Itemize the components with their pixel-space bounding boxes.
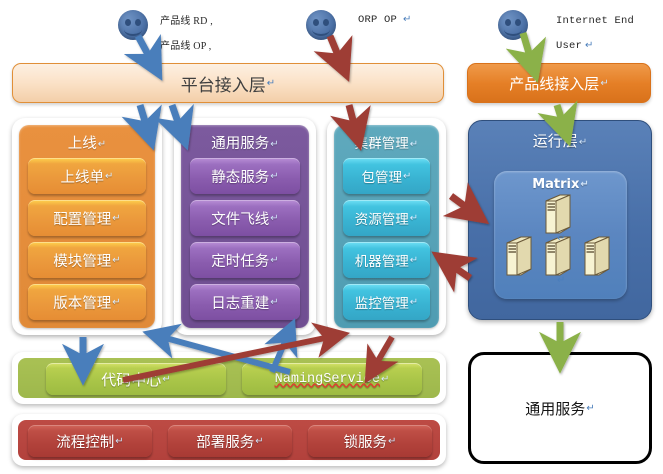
matrix-box[interactable]: Matrix↵ ↵ ↵ xyxy=(494,171,627,299)
actor-label-op: 产品线 OP , xyxy=(160,37,212,52)
item-online-form[interactable]: 上线单↵ xyxy=(28,158,146,194)
paragraph-mark-icon: ↵ xyxy=(403,14,411,25)
runtime-layer-panel: 运行层↵ Matrix↵ xyxy=(468,120,652,320)
actor-label-internet-end: Internet End xyxy=(556,15,634,27)
item-log-rebuild[interactable]: 日志重建↵ xyxy=(190,284,300,320)
red-services-band: 流程控制↵ 部署服务↵ 锁服务↵ xyxy=(12,414,446,466)
service-lock-service[interactable]: 锁服务↵ xyxy=(308,425,432,457)
actor-label-user: User xyxy=(556,40,582,52)
item-monitor-management[interactable]: 监控管理↵ xyxy=(343,284,430,320)
item-module-management[interactable]: 模块管理↵ xyxy=(28,242,146,278)
column-common-service: 通用服务↵ 静态服务↵ 文件飞线↵ 定时任务↵ 日志重建↵ xyxy=(174,118,316,335)
column-online-header: 上线↵ xyxy=(19,125,155,153)
actor-avatar-platform xyxy=(118,10,148,40)
green-services-band: 代码中心↵ NamingService↵ xyxy=(12,352,446,404)
column-common-service-header: 通用服务↵ xyxy=(181,125,309,153)
actor-label-orp-op: ORP OP xyxy=(358,14,397,26)
service-naming-service[interactable]: NamingService↵ xyxy=(242,363,422,395)
server-icon xyxy=(546,195,570,233)
architecture-diagram: 产品线 RD , 产品线 OP , ORP OP ↵ Internet End … xyxy=(0,0,663,474)
column-cluster-management: 集群管理↵ 包管理↵ 资源管理↵ 机器管理↵ 监控管理↵ xyxy=(327,118,446,335)
product-line-access-layer-bar[interactable]: 产品线接入层↵ xyxy=(467,63,651,103)
item-static-service[interactable]: 静态服务↵ xyxy=(190,158,300,194)
item-version-management[interactable]: 版本管理↵ xyxy=(28,284,146,320)
server-icon xyxy=(507,237,531,275)
paragraph-mark-icon: ↵ xyxy=(600,78,608,89)
platform-access-layer-label: 平台接入层 xyxy=(181,71,266,96)
actor-label-rd: 产品线 RD , xyxy=(160,12,213,27)
actor-avatar-internet xyxy=(498,10,528,40)
platform-access-layer-bar[interactable]: 平台接入层↵ xyxy=(12,63,444,103)
item-package-management[interactable]: 包管理↵ xyxy=(343,158,430,194)
paragraph-mark-icon: ↵ xyxy=(585,40,593,51)
service-deploy-service[interactable]: 部署服务↵ xyxy=(168,425,292,457)
item-scheduled-task[interactable]: 定时任务↵ xyxy=(190,242,300,278)
paragraph-mark-icon: ↵ xyxy=(267,78,275,89)
service-process-control[interactable]: 流程控制↵ xyxy=(28,425,152,457)
actor-avatar-orp xyxy=(306,10,336,40)
runtime-layer-header: 运行层↵ xyxy=(469,121,651,151)
common-service-box-label: 通用服务 xyxy=(525,398,585,419)
item-config-management[interactable]: 配置管理↵ xyxy=(28,200,146,236)
server-icon xyxy=(585,237,609,275)
column-cluster-management-header: 集群管理↵ xyxy=(334,125,439,152)
column-online: 上线↵ 上线单↵ 配置管理↵ 模块管理↵ 版本管理↵ xyxy=(12,118,162,335)
item-machine-management[interactable]: 机器管理↵ xyxy=(343,242,430,278)
service-code-center[interactable]: 代码中心↵ xyxy=(46,363,226,395)
common-service-box[interactable]: 通用服务↵ xyxy=(468,352,652,464)
paragraph-mark-icon: ↵ xyxy=(586,403,594,414)
paragraph-mark-icon: ↵ xyxy=(557,275,565,286)
item-file-transfer[interactable]: 文件飞线↵ xyxy=(190,200,300,236)
item-resource-management[interactable]: 资源管理↵ xyxy=(343,200,430,236)
paragraph-mark-icon: ↵ xyxy=(557,233,565,244)
product-line-access-layer-label: 产品线接入层 xyxy=(509,73,599,94)
